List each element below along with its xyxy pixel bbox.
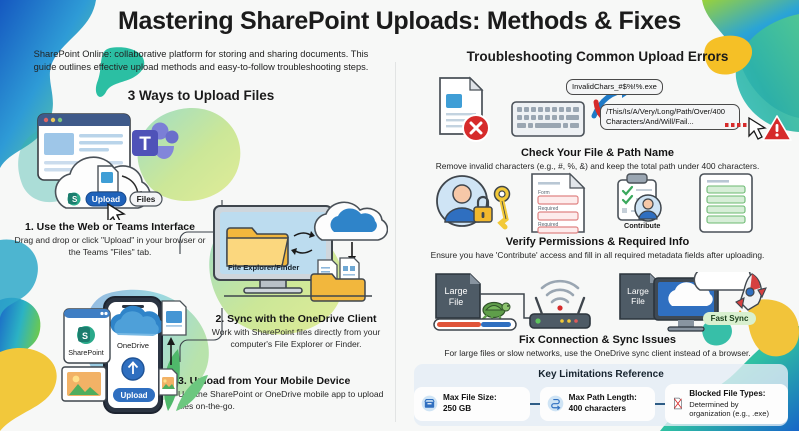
upload-button-label: Upload — [92, 194, 120, 204]
fast-sync-badge: Fast Sync — [703, 312, 756, 325]
fix-2-illustration: Form Required Required — [432, 172, 772, 234]
key-connector-1 — [530, 403, 540, 405]
step-2-illustration: File Explorer/Finder — [208, 200, 388, 310]
key-value-file-size: 250 GB — [443, 404, 497, 415]
inbox-icon — [421, 395, 438, 412]
mobile-upload-button-label: Upload — [120, 391, 147, 400]
large-file-label-slow-1: Large — [444, 286, 467, 296]
onedrive-label: OneDrive — [117, 341, 149, 350]
invalid-filename-tag: InvalidChars_#$%!%.exe — [566, 79, 663, 95]
teams-letter-icon: T — [139, 134, 151, 155]
key-limitation-card-path-length[interactable]: Max Path Length: 400 characters — [540, 387, 656, 421]
large-file-label-fast-2: File — [631, 296, 645, 306]
infographic-canvas: Mastering SharePoint Uploads: Methods & … — [0, 0, 799, 431]
form-field-label: Form — [538, 190, 550, 196]
screen-label: File Explorer/Finder — [228, 263, 299, 272]
intro-paragraph: SharePoint Online: collaborative platfor… — [26, 48, 376, 74]
left-column-heading: 3 Ways to Upload Files — [26, 88, 376, 103]
key-label-path-length: Max Path Length: — [569, 393, 637, 404]
step-3-illustration: OneDrive Upload S SharePoint — [60, 285, 210, 415]
large-file-label-slow-2: File — [449, 297, 464, 307]
sharepoint-label: SharePoint — [68, 348, 104, 357]
required-label-1: Required — [538, 206, 559, 212]
contribute-label: Contribute — [624, 221, 660, 230]
blocked-file-icon — [672, 394, 684, 413]
key-limitation-card-blocked-types[interactable]: Blocked File Types: Determined by organi… — [665, 384, 788, 424]
path-length-icon — [547, 395, 564, 412]
key-value-path-length: 400 characters — [569, 404, 637, 415]
key-connector-2 — [655, 403, 665, 405]
large-file-label-fast-1: Large — [627, 286, 649, 296]
files-button-label: Files — [137, 195, 156, 204]
sharepoint-letter-icon-mobile: S — [82, 331, 88, 341]
fix-1-warning-group — [723, 112, 795, 142]
page-title: Mastering SharePoint Uploads: Methods & … — [0, 7, 799, 36]
step-1-illustration: T S Upload Files — [26, 108, 196, 220]
right-column-heading: Troubleshooting Common Upload Errors — [405, 49, 790, 64]
key-value-blocked-types: Determined by organization (e.g., .exe) — [689, 400, 781, 419]
key-limitation-card-file-size[interactable]: Max File Size: 250 GB — [414, 387, 530, 421]
key-limitations-heading: Key Limitations Reference — [414, 369, 788, 380]
sharepoint-letter-icon: S — [72, 195, 78, 204]
key-limitations-panel: Key Limitations Reference Max File Size:… — [414, 364, 788, 426]
key-label-blocked-types: Blocked File Types: — [689, 389, 781, 400]
cursor-icon — [749, 118, 765, 139]
key-label-file-size: Max File Size: — [443, 393, 497, 404]
long-path-tag: /This/Is/A/Very/Long/Path/Over/400 Chara… — [600, 104, 740, 130]
